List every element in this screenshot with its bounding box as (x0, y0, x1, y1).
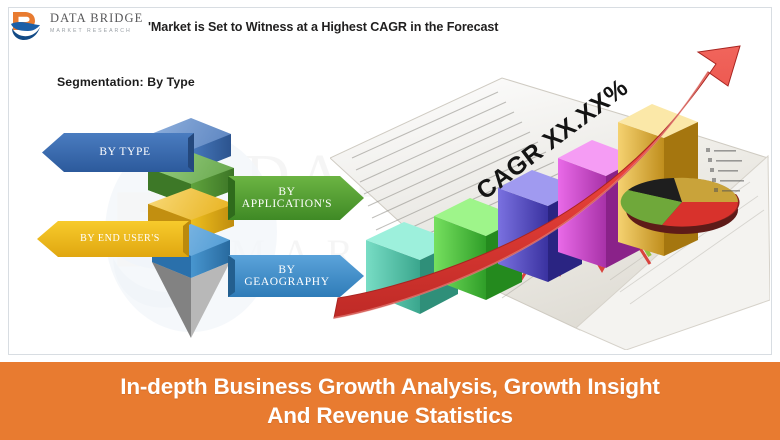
segment-arrow-by-application[interactable]: BYAPPLICATION'S (228, 173, 364, 223)
banner-line-2: And Revenue Statistics (267, 402, 513, 431)
bottom-banner: In-depth Business Growth Analysis, Growt… (0, 362, 780, 440)
brand-logo-text: DATA BRIDGE MARKET RESEARCH (50, 11, 160, 34)
segment-label-by-type: BY TYPE (93, 146, 156, 158)
brand-logo-title: DATA BRIDGE (50, 11, 160, 26)
segment-arrow-by-geography[interactable]: BYGEAOGRAPHY (228, 252, 364, 300)
segment-arrow-by-type[interactable]: BY TYPE (42, 131, 194, 174)
growth-chart-illustration: CAGR XX.XX% (330, 30, 770, 350)
segment-label-by-application: BYAPPLICATION'S (236, 186, 338, 211)
growth-chart-svg (330, 30, 770, 350)
segment-arrow-by-enduser[interactable]: BY END USER'S (37, 219, 189, 259)
banner-line-1: In-depth Business Growth Analysis, Growt… (120, 373, 659, 402)
data-bridge-b-logo-icon (10, 10, 44, 42)
infographic-root: DATA BRIDGE MARKET RESEARCH 'Market is S… (0, 0, 780, 440)
segmentation-label: Segmentation: By Type (57, 75, 195, 89)
brand-logo: DATA BRIDGE MARKET RESEARCH (10, 8, 160, 44)
segment-label-by-enduser: BY END USER'S (74, 234, 166, 245)
segment-label-by-geography: BYGEAOGRAPHY (238, 264, 335, 289)
brand-logo-subtitle: MARKET RESEARCH (50, 28, 160, 34)
